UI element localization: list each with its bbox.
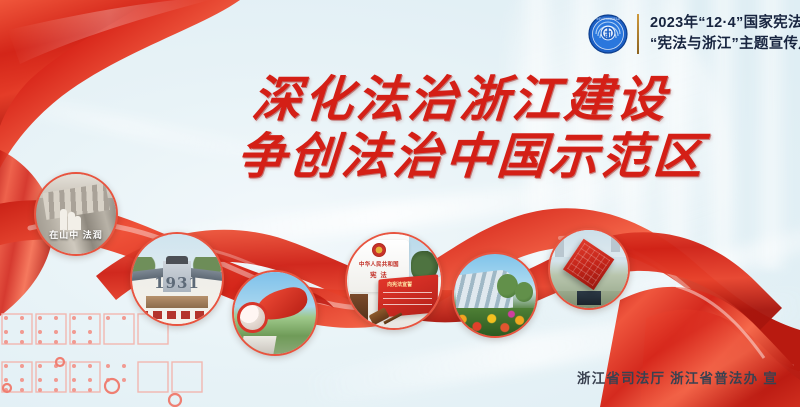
svg-text:中华人民共和国司法部: 中华人民共和国司法部 xyxy=(596,17,621,21)
photo-village-street: 在山中 法润 xyxy=(34,172,118,256)
red-silk-ribbons xyxy=(0,0,800,407)
photo-civic-building xyxy=(452,252,538,338)
photo-red-cube-sculpture xyxy=(548,228,630,310)
ministry-of-justice-emblem-icon: 司 中华人民共和国司法部 xyxy=(588,14,628,54)
photo-caption: 在山中 法润 xyxy=(36,228,116,241)
photo-1931-monument: 1931 xyxy=(130,232,224,326)
photo-red-ribbon-sculpture xyxy=(232,270,318,356)
title-line-1: 深化法治浙江建设 xyxy=(198,72,722,127)
header-lockup: 司 中华人民共和国司法部 2023年“12·4”国家宪法日 “宪法与浙江”主题宣… xyxy=(588,14,800,54)
main-title: 深化法治浙江建设 争创法治中国示范区 xyxy=(200,72,720,184)
footer-credit: 浙江省司法厅 浙江省普法办 宣 xyxy=(577,367,778,387)
header-line-1: 2023年“12·4”国家宪法日 xyxy=(650,14,800,33)
oath-label: 向宪法宣誓 xyxy=(381,281,419,288)
header-divider xyxy=(637,14,639,54)
header-line-2: “宪法与浙江”主题宣传月 xyxy=(650,35,800,54)
monument-year-label: 1931 xyxy=(132,274,222,292)
constitution-country-label: 中华人民共和国 xyxy=(351,260,407,268)
poster-banner: 在山中 法润 1931 中华人民共和国 宪 法 向宪法宣誓 xyxy=(0,0,800,407)
svg-text:司: 司 xyxy=(604,30,612,39)
photo-constitution-wall: 中华人民共和国 宪 法 向宪法宣誓 xyxy=(345,232,443,330)
title-line-2: 争创法治中国示范区 xyxy=(220,129,722,184)
